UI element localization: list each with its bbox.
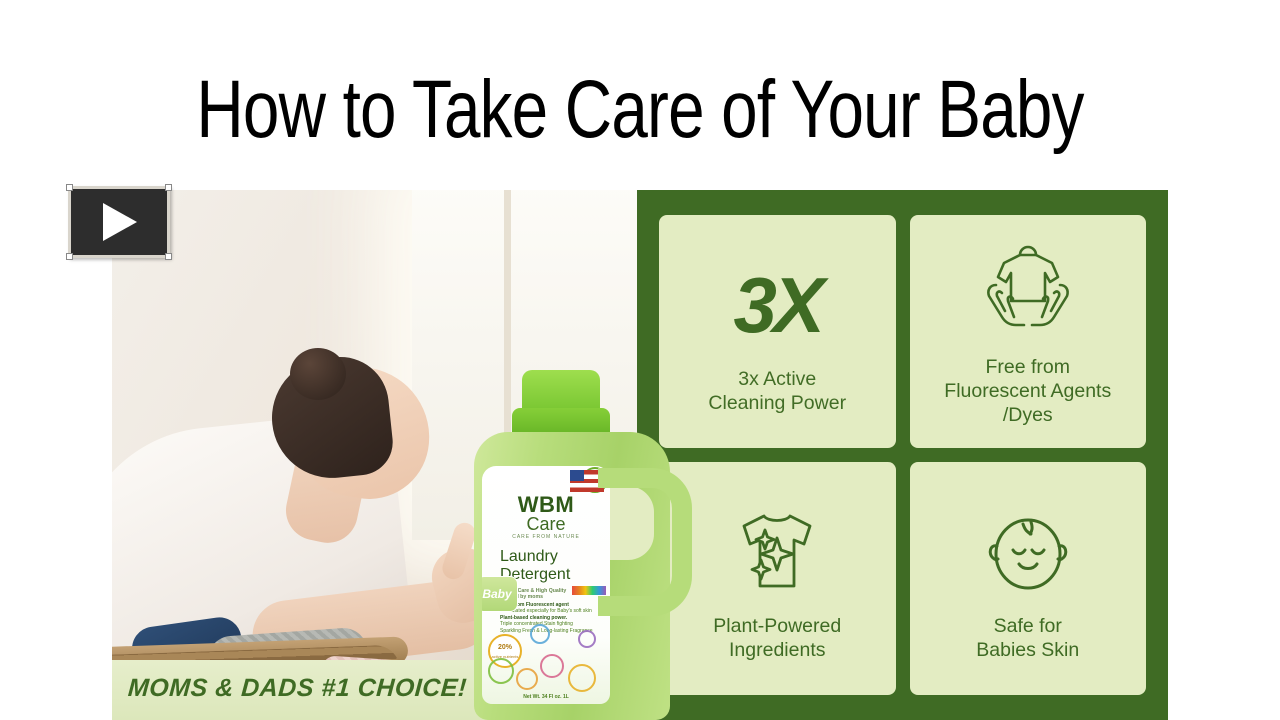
feature-card-label: Safe for Babies Skin <box>976 614 1079 662</box>
sub-brand-name: Care <box>482 514 610 535</box>
sparkling-shirt-icon <box>724 496 830 608</box>
baby-face-icon <box>975 496 1081 608</box>
play-video-button[interactable] <box>68 186 170 258</box>
baby-badge: Baby <box>482 576 518 612</box>
mother-hair-bun <box>290 348 346 400</box>
feature-card-safe-for-skin[interactable]: Safe for Babies Skin <box>910 462 1147 695</box>
label-decoration-circles <box>482 616 610 692</box>
feature-panel: 3X 3x Active Cleaning Power <box>637 190 1168 720</box>
media-block: MOMS & DADS #1 CHOICE! 3X 3x Active Clea… <box>112 190 1168 720</box>
net-contents: Net Wt. 34 Fl oz. 1L <box>482 694 610 700</box>
product-name-line1: Laundry <box>500 548 606 566</box>
play-triangle-icon <box>103 203 137 241</box>
page-title: How to Take Care of Your Baby <box>128 62 1152 158</box>
feature-card-3x-cleaning[interactable]: 3X 3x Active Cleaning Power <box>659 215 896 448</box>
bottle-handle <box>598 468 692 616</box>
presentation-slide: How to Take Care of Your Baby <box>0 0 1280 720</box>
choice-banner-text: MOMS & DADS #1 CHOICE! <box>127 674 468 703</box>
bottle-label: WBM Care CARE FROM NATURE Laundry Deterg… <box>482 466 610 704</box>
feature-card-label: Free from Fluorescent Agents /Dyes <box>944 355 1111 427</box>
hands-holding-shirt-icon <box>972 237 1084 349</box>
feature-card-free-from-fluorescent[interactable]: Free from Fluorescent Agents /Dyes <box>910 215 1147 448</box>
product-bottle: WBM Care CARE FROM NATURE Laundry Deterg… <box>470 370 690 720</box>
3x-logo-icon: 3X <box>734 249 821 361</box>
brand-tagline: CARE FROM NATURE <box>482 534 610 540</box>
feature-card-label: 3x Active Cleaning Power <box>708 367 846 415</box>
feature-card-plant-powered[interactable]: Plant-Powered Ingredients <box>659 462 896 695</box>
feature-card-label: Plant-Powered Ingredients <box>713 614 841 662</box>
feature-card-grid: 3X 3x Active Cleaning Power <box>659 215 1146 695</box>
